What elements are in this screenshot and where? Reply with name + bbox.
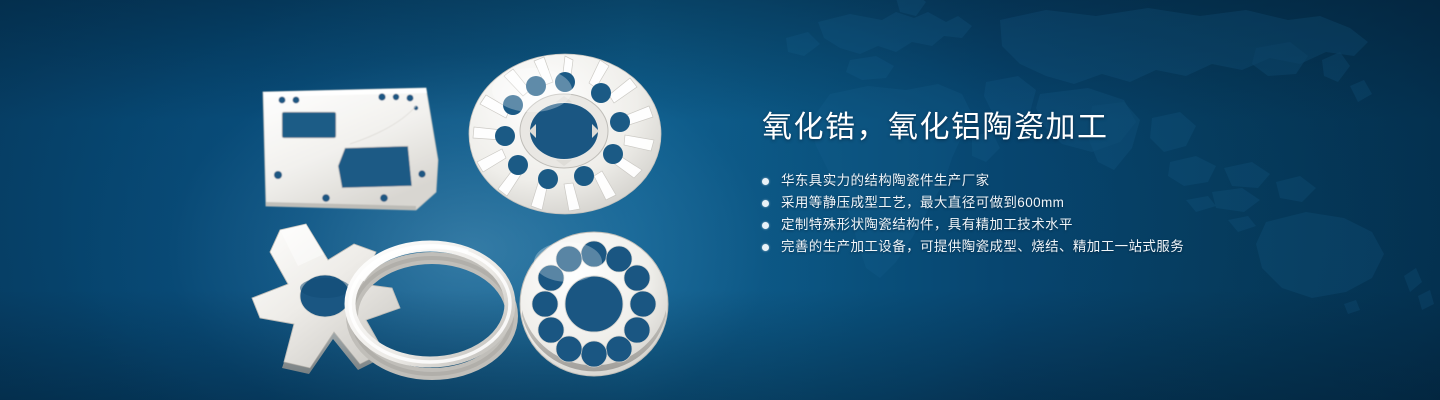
feature-list: 华东具实力的结构陶瓷件生产厂家 采用等静压成型工艺，最大直径可做到600mm 定… — [762, 170, 1362, 258]
bullet-dot-icon — [762, 178, 769, 185]
ceramic-products-image — [230, 40, 700, 380]
background-bottom-shade — [0, 290, 1440, 400]
list-item-label: 华东具实力的结构陶瓷件生产厂家 — [781, 170, 990, 192]
list-item: 完善的生产加工设备，可提供陶瓷成型、烧结、精加工一站式服务 — [762, 236, 1362, 258]
list-item: 华东具实力的结构陶瓷件生产厂家 — [762, 170, 1362, 192]
background-top-shade — [0, 0, 1440, 120]
list-item-label: 完善的生产加工设备，可提供陶瓷成型、烧结、精加工一站式服务 — [781, 236, 1184, 258]
bullet-dot-icon — [762, 200, 769, 207]
hero-banner: 氧化锆，氧化铝陶瓷加工 华东具实力的结构陶瓷件生产厂家 采用等静压成型工艺，最大… — [0, 0, 1440, 400]
ceramic-perforated-disc — [520, 232, 668, 376]
ceramic-impeller-disc — [469, 54, 661, 214]
list-item: 采用等静压成型工艺，最大直径可做到600mm — [762, 192, 1362, 214]
bullet-dot-icon — [762, 222, 769, 229]
list-item-label: 定制特殊形状陶瓷结构件，具有精加工技术水平 — [781, 214, 1073, 236]
bullet-dot-icon — [762, 244, 769, 251]
headline: 氧化锆，氧化铝陶瓷加工 — [762, 108, 1362, 148]
list-item: 定制特殊形状陶瓷结构件，具有精加工技术水平 — [762, 214, 1362, 236]
list-item-label: 采用等静压成型工艺，最大直径可做到600mm — [781, 192, 1064, 214]
ceramic-plate-with-cutouts — [263, 88, 438, 210]
banner-copy: 氧化锆，氧化铝陶瓷加工 华东具实力的结构陶瓷件生产厂家 采用等静压成型工艺，最大… — [762, 108, 1362, 258]
